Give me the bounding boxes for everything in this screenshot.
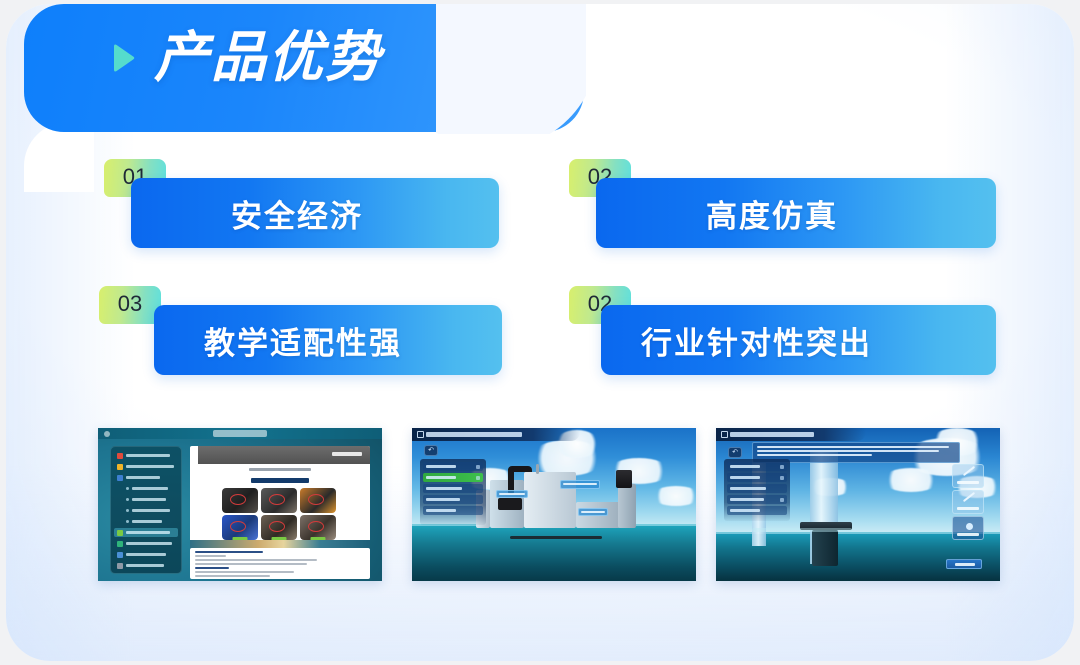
sidebar-subitem[interactable] <box>114 506 178 515</box>
feature-card-list: 01 安全经济 02 高度仿真 03 教学适配性强 02 <box>6 159 1074 384</box>
menu-item-selected[interactable] <box>423 473 483 482</box>
vr-title-text <box>426 432 522 437</box>
floor-edge <box>752 528 852 532</box>
menu-item[interactable] <box>727 495 787 504</box>
feature-bar[interactable]: 行业针对性突出 <box>601 305 996 375</box>
feature-label: 教学适配性强 <box>204 318 402 363</box>
cloud-shape <box>882 468 940 492</box>
vr-title-text <box>730 432 814 437</box>
cloud-shape <box>652 486 696 506</box>
feature-label: 行业针对性突出 <box>641 318 872 363</box>
antenna <box>536 464 539 474</box>
title-row: 产品优势 <box>110 30 382 85</box>
home-icon[interactable] <box>721 431 728 438</box>
page-title: 产品优势 <box>154 30 382 85</box>
header-banner: 产品优势 <box>24 4 584 132</box>
feature-bar[interactable]: 教学适配性强 <box>154 305 502 375</box>
sidebar-item-selected[interactable] <box>114 528 178 537</box>
menu-icon <box>104 431 110 437</box>
slide-page: 产品优势 01 安全经济 02 高度仿真 03 教学适配性强 <box>0 0 1080 665</box>
vr-operation-screenshot[interactable]: ↶ <box>716 428 1000 581</box>
menu-item[interactable] <box>727 484 787 493</box>
equipment-cabinet <box>616 470 632 488</box>
scene-tooltip[interactable] <box>496 490 528 498</box>
menu-item[interactable] <box>423 484 483 493</box>
courseware-content <box>190 446 370 544</box>
play-triangle-icon <box>110 43 136 73</box>
vr-simulation-screenshot[interactable]: ↶ <box>412 428 696 581</box>
back-button[interactable]: ↶ <box>728 447 742 458</box>
menu-item[interactable] <box>727 462 787 471</box>
photo-thumbnail[interactable] <box>222 488 258 513</box>
feature-bar[interactable]: 高度仿真 <box>596 178 996 248</box>
sidebar-subitem[interactable] <box>114 517 178 526</box>
back-button[interactable]: ↶ <box>424 445 438 456</box>
floor-rail <box>510 536 602 539</box>
content-heading <box>251 478 309 483</box>
menu-item[interactable] <box>423 495 483 504</box>
vr-titlebar <box>412 428 580 441</box>
vr-scene: ↶ <box>716 428 1000 581</box>
ground-plane <box>412 524 696 581</box>
banner-label <box>332 452 362 456</box>
photo-thumbnail[interactable] <box>300 488 336 513</box>
courseware-screenshot[interactable] <box>98 428 382 581</box>
courseware-ui <box>98 428 382 581</box>
screenshot-gallery: ↶ <box>6 428 1074 588</box>
sidebar-item[interactable] <box>114 462 178 471</box>
menu-item[interactable] <box>727 506 787 515</box>
photo-thumbnail[interactable] <box>261 488 297 513</box>
column-base <box>812 530 838 566</box>
home-icon[interactable] <box>417 431 424 438</box>
photo-thumbnail[interactable] <box>261 515 297 540</box>
scene-tooltip[interactable] <box>578 508 608 516</box>
feature-bar[interactable]: 安全经济 <box>131 178 499 248</box>
tool-card[interactable] <box>952 516 984 540</box>
menu-item[interactable] <box>423 506 483 515</box>
sidebar-item[interactable] <box>114 550 178 559</box>
sidebar-subitem[interactable] <box>114 495 178 504</box>
sidebar-item[interactable] <box>114 473 178 482</box>
equipment-motor <box>498 498 522 510</box>
equipment-pedestal <box>618 484 636 528</box>
photo-thumbnail[interactable] <box>222 515 258 540</box>
content-banner <box>198 446 370 464</box>
header-banner-curve <box>436 4 586 134</box>
courseware-title-text <box>213 430 267 437</box>
feature-label: 高度仿真 <box>706 191 838 236</box>
content-caption <box>249 468 311 471</box>
thumbnail-grid <box>222 488 338 540</box>
courseware-text-panel <box>190 548 370 579</box>
courseware-titlebar <box>98 428 382 439</box>
sidebar-item[interactable] <box>114 539 178 548</box>
vr-titlebar <box>716 428 866 441</box>
courseware-sidebar[interactable] <box>110 446 182 574</box>
tool-card[interactable] <box>952 490 984 514</box>
scene-tooltip[interactable] <box>560 480 600 489</box>
menu-item[interactable] <box>727 473 787 482</box>
confirm-button[interactable] <box>946 559 982 569</box>
feature-number-badge: 03 <box>99 286 161 324</box>
content-card: 产品优势 01 安全经济 02 高度仿真 03 教学适配性强 <box>6 4 1074 661</box>
vr-menu-panel[interactable] <box>724 459 790 521</box>
sidebar-item[interactable] <box>114 451 178 460</box>
vr-menu-panel[interactable] <box>420 459 486 525</box>
menu-item[interactable] <box>423 462 483 471</box>
sidebar-subitem[interactable] <box>114 484 178 493</box>
sidebar-item[interactable] <box>114 561 178 570</box>
photo-thumbnail[interactable] <box>300 515 336 540</box>
vr-scene: ↶ <box>412 428 696 581</box>
tool-card[interactable] <box>952 464 984 488</box>
feature-label: 安全经济 <box>231 191 363 236</box>
